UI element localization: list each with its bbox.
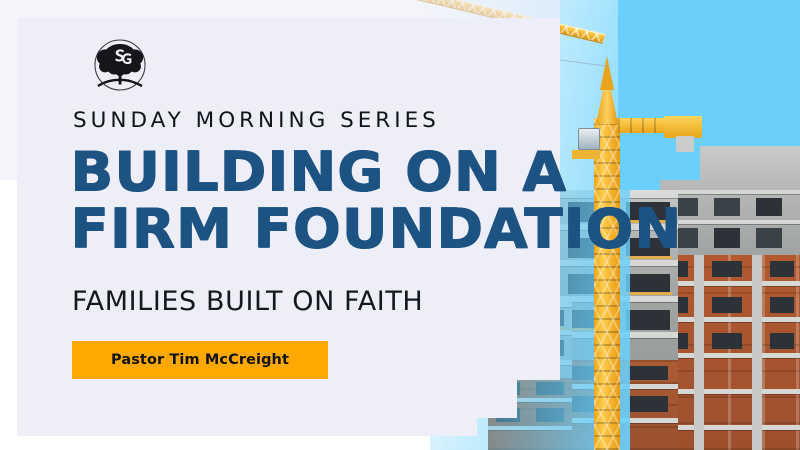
speaker-button[interactable]: Pastor Tim McCreight xyxy=(72,341,328,379)
subtitle: FAMILIES BUILT ON FAITH xyxy=(72,286,423,317)
tree-circle-monogram-logo xyxy=(89,37,151,99)
title-line-1: BUILDING ON A xyxy=(70,143,682,200)
slide-canvas: SUNDAY MORNING SERIES BUILDING ON A FIRM… xyxy=(0,0,800,450)
page-title: BUILDING ON A FIRM FOUNDATION xyxy=(70,143,682,257)
series-kicker: SUNDAY MORNING SERIES xyxy=(73,108,440,133)
title-line-2: FIRM FOUNDATION xyxy=(70,200,682,257)
slide-content: SUNDAY MORNING SERIES BUILDING ON A FIRM… xyxy=(0,0,800,450)
